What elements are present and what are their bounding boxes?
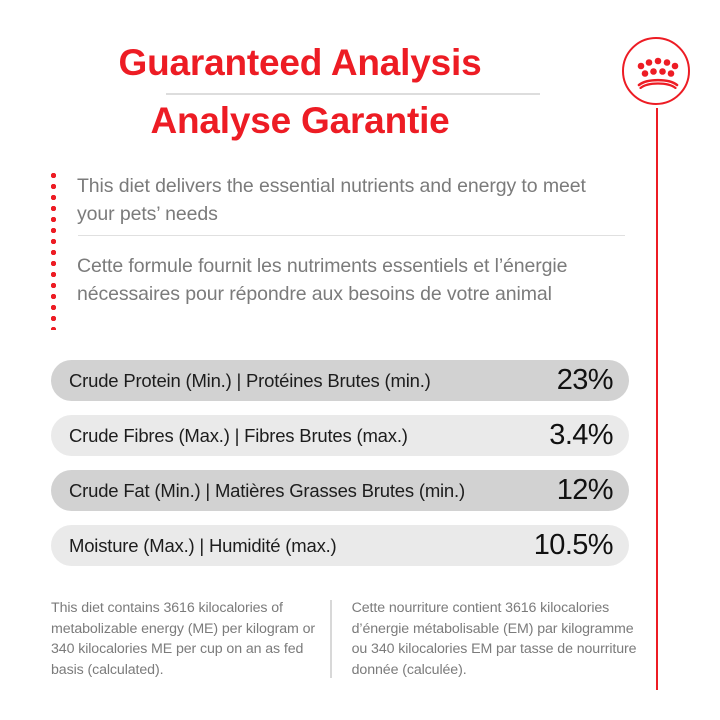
nutrient-value: 12% (557, 474, 613, 507)
table-row: Crude Fat (Min.) | Matières Grasses Brut… (51, 470, 629, 511)
table-row: Crude Fibres (Max.) | Fibres Brutes (max… (51, 415, 629, 456)
title-divider (166, 93, 540, 95)
footer-divider (330, 600, 331, 678)
dotted-accent-line (51, 170, 56, 330)
nutrient-label: Crude Protein (Min.) | Protéines Brutes … (69, 370, 431, 392)
table-row: Moisture (Max.) | Humidité (max.) 10.5% (51, 525, 629, 566)
description-divider (78, 235, 625, 236)
nutrient-label: Crude Fat (Min.) | Matières Grasses Brut… (69, 480, 465, 502)
nutrient-value: 23% (557, 364, 613, 397)
footer: This diet contains 3616 kilocalories of … (51, 598, 651, 680)
guaranteed-analysis-panel: Guaranteed Analysis Analyse Garantie Thi… (0, 0, 720, 720)
brand-logo (622, 37, 694, 109)
nutrient-label: Moisture (Max.) | Humidité (max.) (69, 535, 337, 557)
nutrient-value: 3.4% (549, 419, 613, 452)
description-fr: Cette formule fournit les nutriments ess… (77, 252, 625, 308)
analysis-table: Crude Protein (Min.) | Protéines Brutes … (51, 360, 629, 580)
footer-text-en: This diet contains 3616 kilocalories of … (51, 598, 318, 680)
description-en: This diet delivers the essential nutrien… (77, 172, 625, 228)
footer-text-fr: Cette nourriture contient 3616 kilocalor… (352, 598, 651, 680)
nutrient-value: 10.5% (534, 529, 613, 562)
royal-crown-icon (635, 55, 681, 89)
nutrient-label: Crude Fibres (Max.) | Fibres Brutes (max… (69, 425, 408, 447)
logo-stem-line (656, 108, 658, 690)
page-title-fr: Analyse Garantie (0, 100, 600, 142)
page-title-en: Guaranteed Analysis (0, 42, 600, 84)
table-row: Crude Protein (Min.) | Protéines Brutes … (51, 360, 629, 401)
